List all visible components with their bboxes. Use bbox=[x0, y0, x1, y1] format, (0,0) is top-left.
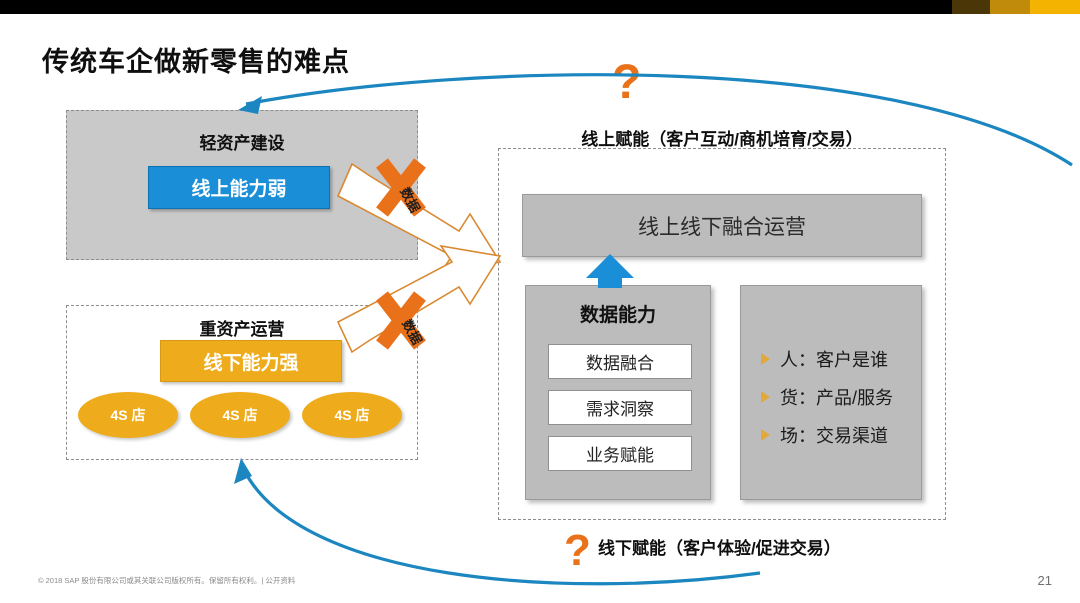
heavy-asset-heading: 重资产运营 bbox=[67, 315, 417, 340]
data-capability-item: 数据融合 bbox=[548, 344, 692, 379]
pcs-label: 货：产品/服务 bbox=[780, 384, 893, 410]
decor-bar-mid bbox=[990, 0, 1030, 14]
decor-bar-light bbox=[1030, 0, 1080, 14]
data-capability-item: 需求洞察 bbox=[548, 390, 692, 425]
triangle-bullet-icon bbox=[761, 429, 770, 441]
pcs-row: 人：客户是谁 bbox=[741, 340, 921, 378]
question-mark-top: ? bbox=[612, 55, 641, 110]
shop-ellipse: 4S 店 bbox=[302, 392, 402, 438]
slide-canvas: 传统车企做新零售的难点 轻资产建设 线上能力弱 重资产运营 线下能力强 4S 店… bbox=[0, 0, 1080, 603]
page-title: 传统车企做新零售的难点 bbox=[42, 40, 350, 79]
top-black-bar bbox=[0, 0, 1080, 14]
people-goods-place-box: 人：客户是谁 货：产品/服务 场：交易渠道 bbox=[740, 285, 922, 500]
page-number: 21 bbox=[1038, 573, 1052, 588]
triangle-bullet-icon bbox=[761, 353, 770, 365]
decor-bar-dark bbox=[952, 0, 990, 14]
shop-ellipse: 4S 店 bbox=[78, 392, 178, 438]
pcs-row: 货：产品/服务 bbox=[741, 378, 921, 416]
caption-online-enablement: 线上赋能（客户互动/商机培育/交易） bbox=[498, 125, 946, 150]
merge-operations-box: 线上线下融合运营 bbox=[522, 194, 922, 257]
copyright-footer: © 2018 SAP 股份有限公司或其关联公司版权所有。保留所有权利。| 公开资… bbox=[38, 575, 295, 586]
shop-ellipse: 4S 店 bbox=[190, 392, 290, 438]
offline-capability-strong-box: 线下能力强 bbox=[160, 340, 342, 382]
caption-offline-enablement: 线下赋能（客户体验/促进交易） bbox=[598, 534, 841, 559]
curve-arrowhead-bottom bbox=[234, 458, 252, 484]
pcs-row: 场：交易渠道 bbox=[741, 416, 921, 454]
data-capability-title: 数据能力 bbox=[526, 300, 710, 327]
question-mark-bottom: ? bbox=[564, 526, 591, 576]
data-capability-item: 业务赋能 bbox=[548, 436, 692, 471]
light-asset-heading: 轻资产建设 bbox=[67, 129, 417, 154]
pcs-label: 场：交易渠道 bbox=[780, 422, 888, 448]
data-capability-box: 数据能力 数据融合 需求洞察 业务赋能 bbox=[525, 285, 711, 500]
pcs-label: 人：客户是谁 bbox=[780, 346, 888, 372]
online-capability-weak-box: 线上能力弱 bbox=[148, 166, 330, 209]
triangle-bullet-icon bbox=[761, 391, 770, 403]
